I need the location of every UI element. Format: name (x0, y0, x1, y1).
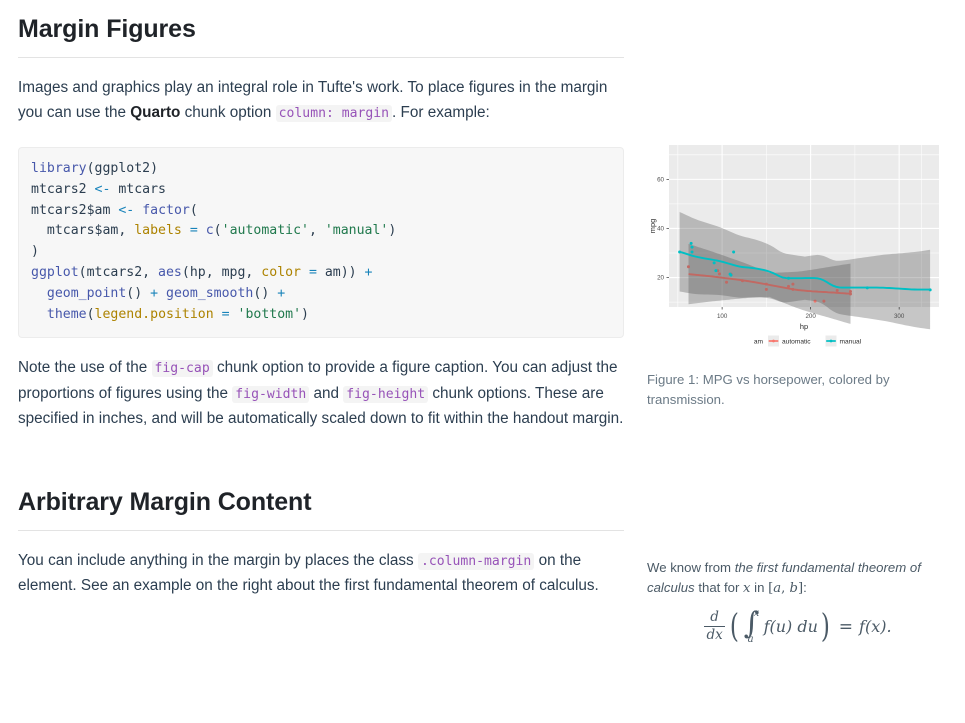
code-token (214, 307, 222, 322)
quarto-strong: Quarto (130, 104, 180, 121)
code-token: aes (158, 265, 182, 280)
inline-code-fig-cap: fig-cap (152, 360, 213, 377)
code-token (134, 203, 142, 218)
code-token: labels (134, 223, 182, 238)
code-token: ) (31, 244, 39, 259)
code-token (31, 307, 47, 322)
paren-open: ( (730, 613, 739, 639)
integral-upper-limit: x (754, 608, 760, 619)
equation-row: d dx ( ∫ x a f(u) du ) = f(x). (702, 610, 891, 644)
code-token: ( (87, 307, 95, 322)
data-point-manual (866, 286, 869, 289)
section-title-arbitrary-margin-content: Arbitrary Margin Content (18, 487, 624, 517)
equation-rhs: f(x). (859, 617, 892, 636)
code-token: 'bottom' (238, 307, 302, 322)
y-tick-label: 40 (657, 226, 664, 233)
ggplot-scatter-chart: 100200300204060hpmpgamautomaticmanual (647, 141, 947, 356)
code-token: color (261, 265, 301, 280)
page-title: Margin Figures (18, 14, 624, 44)
section-divider (18, 530, 624, 531)
code-token: 'manual' (325, 223, 389, 238)
x-tick-label: 100 (717, 313, 728, 320)
code-token (301, 265, 309, 280)
fraction-numerator: d (708, 610, 721, 626)
data-point-manual (678, 251, 681, 254)
outro-part3: and (309, 385, 343, 402)
code-token: + (277, 286, 285, 301)
integral-lower-limit: a (748, 634, 754, 645)
code-token: legend.position (95, 307, 214, 322)
data-point-manual (729, 274, 732, 277)
mpg-vs-hp-figure: 100200300204060hpmpgamautomaticmanual (647, 141, 947, 356)
code-token: , (309, 223, 325, 238)
equals-sign: = (839, 617, 853, 637)
intro-paragraph: Images and graphics play an integral rol… (18, 76, 624, 126)
code-token: c (206, 223, 214, 238)
code-token: (mtcars2, (79, 265, 158, 280)
inline-code-column-margin-class: .column-margin (418, 553, 534, 570)
legend-key-point (772, 340, 775, 343)
y-axis-label: mpg (648, 219, 657, 233)
data-point-manual (691, 251, 694, 254)
code-token (198, 223, 206, 238)
legend-title: am (754, 338, 764, 345)
note-var-b: b (790, 581, 798, 596)
code-token: theme (47, 307, 87, 322)
code-token: (hp, mpg, (182, 265, 261, 280)
code-token: = (309, 265, 317, 280)
data-point-manual (713, 261, 716, 264)
code-token (230, 307, 238, 322)
x-tick-label: 300 (894, 313, 905, 320)
data-point-manual (691, 246, 694, 249)
code-token: library (31, 161, 87, 176)
code-token: mtcars2$am (31, 203, 118, 218)
note-part1: We know from (647, 560, 735, 575)
code-token: mtcars (110, 182, 166, 197)
legend-label-automatic: automatic (782, 338, 811, 345)
code-token (158, 286, 166, 301)
code-token: () (126, 286, 150, 301)
code-token: ggplot (31, 265, 79, 280)
code-token: + (365, 265, 373, 280)
note-part2: that for (695, 580, 743, 595)
data-point-manual (929, 288, 932, 291)
code-token: = (222, 307, 230, 322)
fundamental-theorem-equation: d dx ( ∫ x a f(u) du ) = f(x). (647, 608, 947, 644)
fraction-denominator: dx (704, 626, 724, 643)
note-part4: : (803, 580, 807, 595)
code-token (182, 223, 190, 238)
code-token: geom_smooth (166, 286, 253, 301)
inline-code-fig-height: fig-height (343, 386, 428, 403)
code-token: + (150, 286, 158, 301)
x-tick-label: 200 (805, 313, 816, 320)
code-token: <- (95, 182, 111, 197)
derivative-fraction: d dx (704, 610, 724, 643)
outro-part1: Note the use of the (18, 359, 152, 376)
code-token: geom_point (47, 286, 126, 301)
intro-text-part2: chunk option (180, 104, 275, 121)
figure-caption: Figure 1: MPG vs horsepower, colored by … (647, 370, 947, 410)
data-point-manual (732, 251, 735, 254)
code-token: mtcars2 (31, 182, 95, 197)
code-token: () (253, 286, 277, 301)
integrand: f(u) du (764, 617, 818, 636)
data-point-manual (787, 277, 790, 280)
code-token: ( (190, 203, 198, 218)
data-point-manual (690, 242, 693, 245)
y-tick-label: 60 (657, 177, 664, 184)
arbitrary-margin-paragraph: You can include anything in the margin b… (18, 549, 624, 599)
code-token: factor (142, 203, 190, 218)
code-token: ) (388, 223, 396, 238)
paren-close: ) (821, 613, 830, 639)
code-token: 'automatic' (222, 223, 309, 238)
x-axis-label: hp (800, 322, 808, 331)
data-point-manual (714, 269, 717, 272)
arbitrary-part1: You can include anything in the margin b… (18, 552, 418, 569)
code-token: (ggplot2) (87, 161, 158, 176)
code-token: <- (118, 203, 134, 218)
code-token: ( (214, 223, 222, 238)
code-token: = (190, 223, 198, 238)
code-token (31, 286, 47, 301)
code-token: mtcars$am, (31, 223, 134, 238)
main-content-column: Margin Figures Images and graphics play … (18, 0, 624, 599)
integral-symbol-group: ∫ x a (743, 610, 763, 644)
legend-label-manual: manual (840, 338, 862, 345)
code-block-content: library(ggplot2) mtcars2 <- mtcars mtcar… (31, 159, 611, 325)
figure-options-paragraph: Note the use of the fig-cap chunk option… (18, 356, 624, 432)
note-var-a: a (773, 581, 781, 596)
y-tick-label: 20 (657, 275, 664, 282)
legend-key-point (830, 340, 833, 343)
intro-text-part3: . For example: (392, 104, 490, 121)
note-part3: in (750, 580, 768, 595)
code-token: am)) (317, 265, 365, 280)
inline-code-column-margin: column: margin (276, 105, 392, 122)
note-comma: , (781, 581, 789, 596)
inline-code-fig-width: fig-width (232, 386, 309, 403)
title-divider (18, 57, 624, 58)
tufte-handout-page: Margin Figures Images and graphics play … (0, 0, 965, 723)
margin-note-calculus: We know from the first fundamental theor… (647, 558, 947, 598)
r-code-block[interactable]: library(ggplot2) mtcars2 <- mtcars mtcar… (18, 147, 624, 338)
code-token: ) (301, 307, 309, 322)
